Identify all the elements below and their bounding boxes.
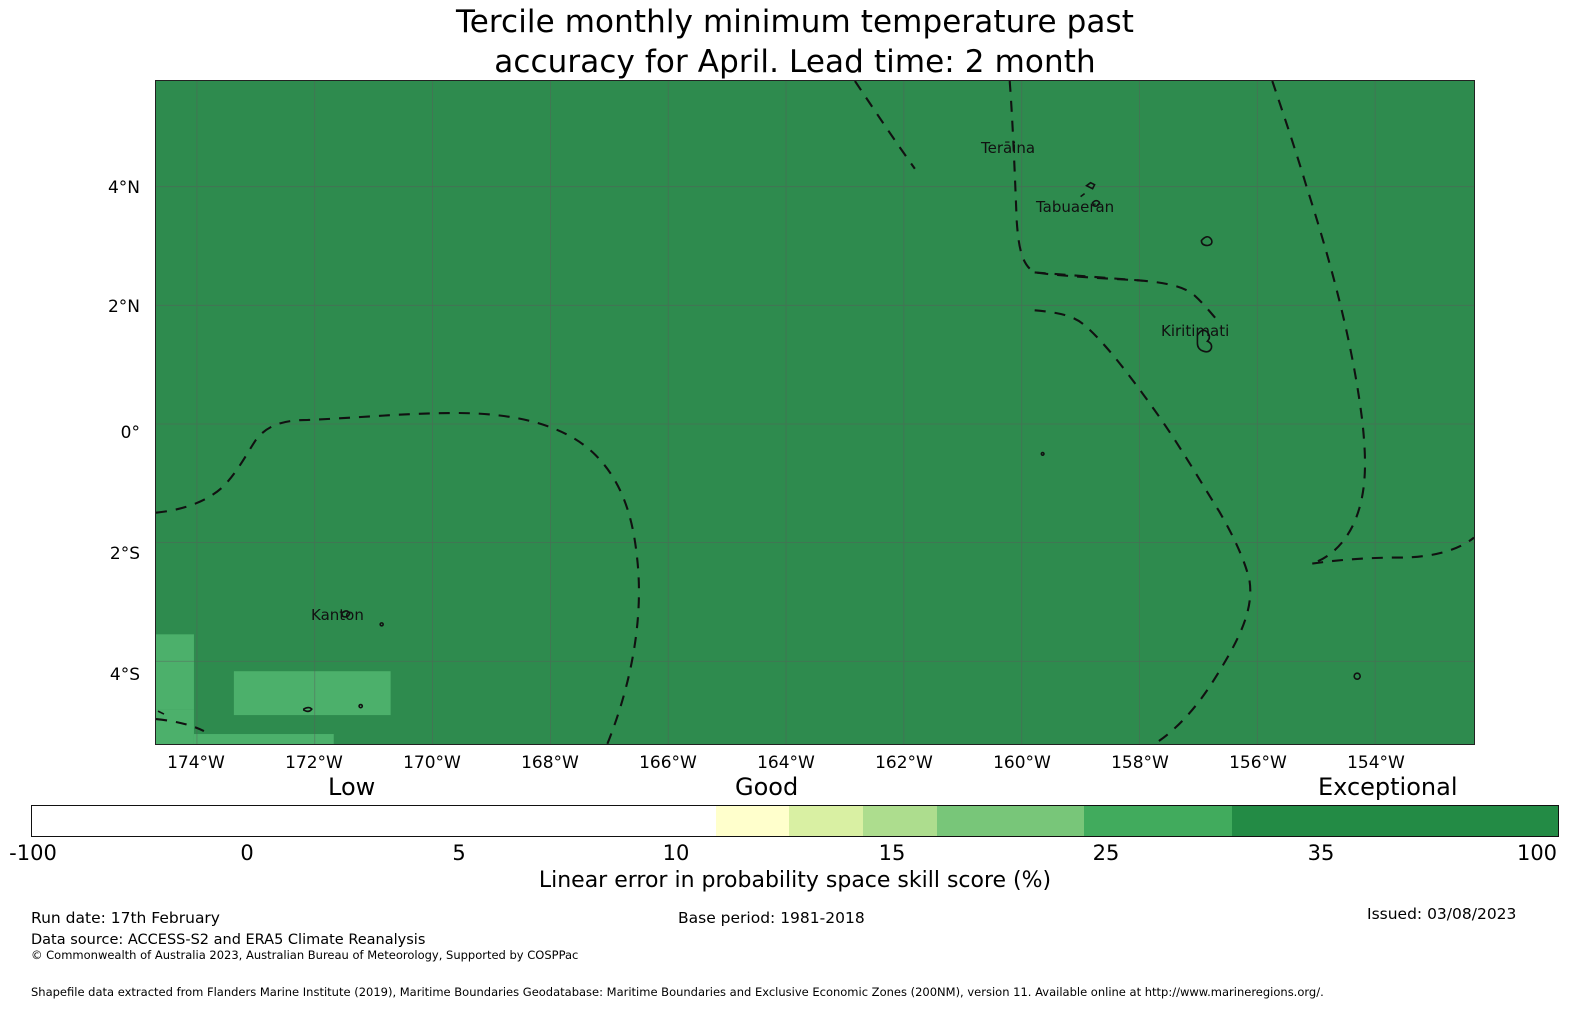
xtick-164w: 164°W <box>721 753 851 773</box>
cbar-tick-15: 15 <box>832 841 952 865</box>
footer-shapefile-credit: Shapefile data extracted from Flanders M… <box>31 985 1324 999</box>
footer-copyright: © Commonwealth of Australia 2023, Austra… <box>31 948 578 962</box>
ytick-0: 0° <box>20 423 140 443</box>
xtick-158w: 158°W <box>1075 753 1205 773</box>
ytick-2s: 2°S <box>20 544 140 564</box>
footer-data-source: Data source: ACCESS-S2 and ERA5 Climate … <box>31 932 425 948</box>
colorbar-category-exceptional: Exceptional <box>1318 773 1458 801</box>
cbar-tick-25: 25 <box>1046 841 1166 865</box>
ytick-2n: 2°N <box>20 297 140 317</box>
xtick-174w: 174°W <box>131 753 261 773</box>
cbar-tick-5: 5 <box>399 841 519 865</box>
colorbar-segment-35-100 <box>1232 806 1558 836</box>
island-label-kiritimati: Kiritimati <box>1161 322 1229 340</box>
map-plot-area[interactable]: Terāina Tabuaeran Kiritimati Kanton <box>155 80 1475 745</box>
footer-issued: Issued: 03/08/2023 <box>1367 905 1516 923</box>
xtick-154w: 154°W <box>1311 753 1441 773</box>
xtick-170w: 170°W <box>367 753 497 773</box>
island-label-teraina: Terāina <box>981 139 1035 157</box>
skill-field-background <box>156 81 1474 744</box>
footer-run-date: Run date: 17th February <box>31 909 220 927</box>
cbar-tick-100: 100 <box>1477 841 1590 865</box>
colorbar-category-good: Good <box>735 773 798 801</box>
footer-base-period: Base period: 1981-2018 <box>678 909 865 927</box>
ytick-4s: 4°S <box>20 665 140 685</box>
map-canvas <box>156 81 1474 744</box>
colorbar-segment-0-5 <box>716 806 790 836</box>
colorbar-category-low: Low <box>328 773 375 801</box>
colorbar[interactable] <box>31 805 1559 837</box>
ytick-4n: 4°N <box>20 178 140 198</box>
xtick-160w: 160°W <box>957 753 1087 773</box>
cbar-tick-35: 35 <box>1261 841 1381 865</box>
xtick-162w: 162°W <box>839 753 969 773</box>
colorbar-axis-label: Linear error in probability space skill … <box>0 868 1590 893</box>
xtick-166w: 166°W <box>603 753 733 773</box>
title-line-1: Tercile monthly minimum temperature past <box>0 2 1590 42</box>
xtick-172w: 172°W <box>249 753 379 773</box>
colorbar-segment-5-10 <box>789 806 863 836</box>
cbar-tick-0: 0 <box>187 841 307 865</box>
title-line-2: accuracy for April. Lead time: 2 month <box>0 42 1590 82</box>
colorbar-segment-10-15 <box>863 806 937 836</box>
colorbar-segment-25-35 <box>1084 806 1232 836</box>
page-title: Tercile monthly minimum temperature past… <box>0 2 1590 82</box>
island-label-kanton: Kanton <box>311 606 364 624</box>
colorbar-segment-neg100-0 <box>32 806 716 836</box>
cbar-tick-10: 10 <box>616 841 736 865</box>
xtick-156w: 156°W <box>1193 753 1323 773</box>
colorbar-segment-15-25 <box>937 806 1085 836</box>
xtick-168w: 168°W <box>485 753 615 773</box>
island-label-tabuaeran: Tabuaeran <box>1036 198 1114 216</box>
cbar-tick-neg100: -100 <box>0 841 93 865</box>
